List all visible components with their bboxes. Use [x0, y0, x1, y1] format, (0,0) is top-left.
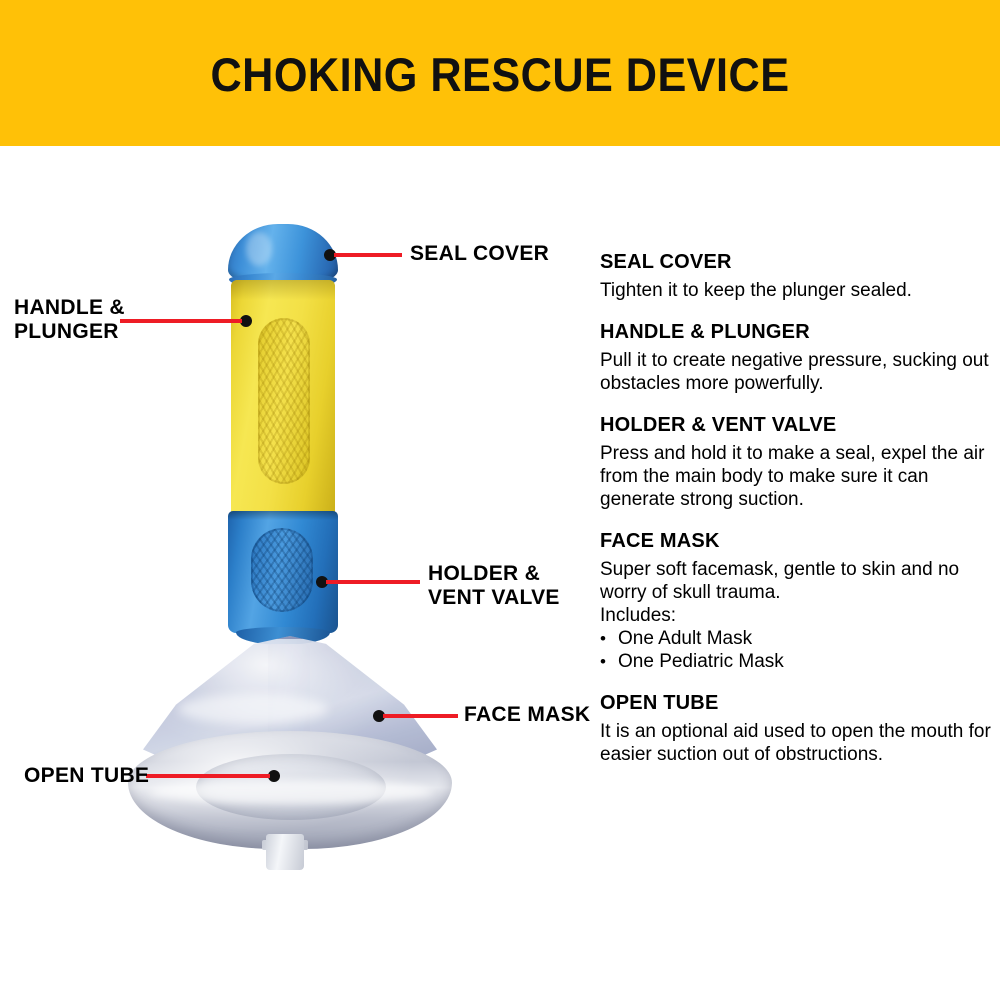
info-body-face-mask: Super soft facemask, gentle to skin and … [600, 558, 992, 604]
handle-grip-texture [258, 318, 310, 484]
seal-cover-highlight [246, 232, 272, 266]
leader-line-face-mask [383, 714, 458, 718]
vent-valve-pad-texture [251, 528, 313, 612]
info-heading-open-tube: OPEN TUBE [600, 691, 992, 715]
holder-top-seam [228, 511, 338, 520]
info-body-seal-cover: Tighten it to keep the plunger sealed. [600, 279, 992, 302]
callout-label-face-mask: FACE MASK [464, 703, 590, 727]
info-includes-list: One Adult Mask One Pediatric Mask [600, 627, 992, 673]
callout-label-holder-vent-valve: HOLDER & VENT VALVE [428, 562, 560, 610]
leader-line-handle-plunger [120, 319, 242, 323]
info-body-holder-vent-valve: Press and hold it to make a seal, expel … [600, 442, 992, 511]
face-mask-cushion-highlight [150, 780, 432, 804]
leader-line-seal-cover [334, 253, 402, 257]
handle-top-shadow [231, 280, 335, 300]
list-item: One Pediatric Mask [600, 650, 992, 673]
info-column: SEAL COVER Tighten it to keep the plunge… [600, 250, 992, 784]
page-title: CHOKING RESCUE DEVICE [40, 47, 960, 102]
part-open-tube [266, 834, 304, 870]
info-body-open-tube: It is an optional aid used to open the m… [600, 720, 992, 766]
callout-label-seal-cover: SEAL COVER [410, 242, 549, 266]
info-block-face-mask: FACE MASK Super soft facemask, gentle to… [600, 529, 992, 673]
info-block-handle-plunger: HANDLE & PLUNGER Pull it to create negat… [600, 320, 992, 395]
info-body-handle-plunger: Pull it to create negative pressure, suc… [600, 349, 992, 395]
info-heading-seal-cover: SEAL COVER [600, 250, 992, 274]
header-banner: CHOKING RESCUE DEVICE [0, 0, 1000, 146]
leader-line-holder-vent-valve [326, 580, 420, 584]
callout-label-open-tube: OPEN TUBE [24, 764, 149, 788]
callout-label-handle-plunger: HANDLE & PLUNGER [14, 296, 125, 344]
info-heading-face-mask: FACE MASK [600, 529, 992, 553]
face-mask-dome-highlight [178, 694, 328, 724]
info-block-seal-cover: SEAL COVER Tighten it to keep the plunge… [600, 250, 992, 302]
info-includes-label: Includes: [600, 604, 992, 627]
info-heading-handle-plunger: HANDLE & PLUNGER [600, 320, 992, 344]
info-heading-holder-vent-valve: HOLDER & VENT VALVE [600, 413, 992, 437]
info-block-holder-vent-valve: HOLDER & VENT VALVE Press and hold it to… [600, 413, 992, 511]
leader-line-open-tube [146, 774, 270, 778]
info-block-open-tube: OPEN TUBE It is an optional aid used to … [600, 691, 992, 766]
list-item: One Adult Mask [600, 627, 992, 650]
